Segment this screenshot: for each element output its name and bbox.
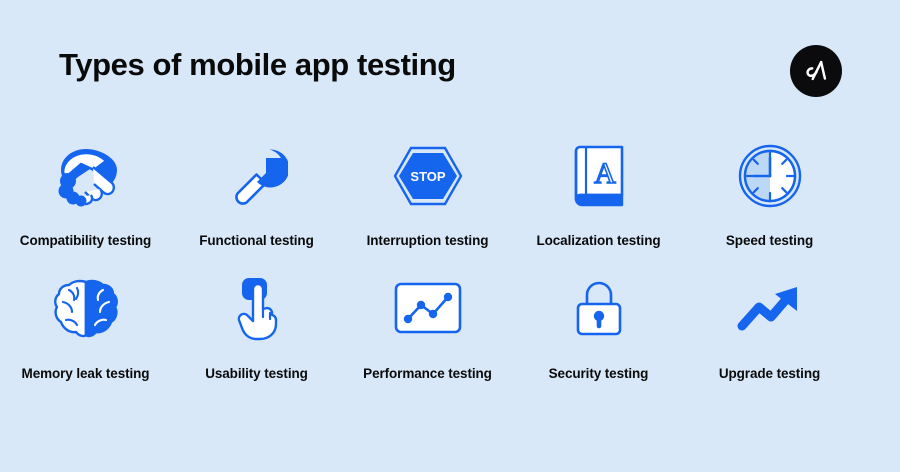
- tap-hand-icon: [228, 271, 286, 347]
- card-functional-testing[interactable]: Functional testing: [171, 138, 342, 248]
- card-label: Functional testing: [199, 233, 313, 248]
- page-title: Types of mobile app testing: [59, 47, 456, 83]
- card-usability-testing[interactable]: Usability testing: [171, 271, 342, 381]
- clock-icon: [737, 138, 803, 214]
- infographic-canvas: Types of mobile app testing: [0, 0, 900, 472]
- card-label: Localization testing: [536, 233, 660, 248]
- wrench-icon: [226, 138, 288, 214]
- card-label: Interruption testing: [367, 233, 489, 248]
- card-upgrade-testing[interactable]: Upgrade testing: [684, 271, 855, 381]
- card-interruption-testing[interactable]: STOP Interruption testing: [342, 138, 513, 248]
- card-localization-testing[interactable]: A Localization testing: [513, 138, 684, 248]
- card-label: Security testing: [549, 366, 649, 381]
- header: Types of mobile app testing: [0, 0, 900, 120]
- line-chart-icon: [393, 271, 463, 347]
- stop-sign-label: STOP: [410, 169, 445, 184]
- card-label: Performance testing: [363, 366, 492, 381]
- card-label: Speed testing: [726, 233, 813, 248]
- card-label: Usability testing: [205, 366, 308, 381]
- card-security-testing[interactable]: Security testing: [513, 271, 684, 381]
- card-label: Upgrade testing: [719, 366, 820, 381]
- trend-up-arrow-icon: [737, 271, 803, 347]
- card-row-2: Memory leak testing Usability testing: [0, 271, 900, 381]
- book-icon: A: [570, 138, 628, 214]
- brand-logo-icon: [790, 45, 842, 97]
- padlock-icon: [571, 271, 627, 347]
- book-cover-letter: A: [594, 157, 616, 190]
- card-performance-testing[interactable]: Performance testing: [342, 271, 513, 381]
- card-label: Memory leak testing: [22, 366, 150, 381]
- card-memory-leak-testing[interactable]: Memory leak testing: [0, 271, 171, 381]
- handshake-icon: [50, 138, 122, 214]
- brain-icon: [51, 271, 121, 347]
- card-row-1: Compatibility testing Functional testing: [0, 138, 900, 248]
- stop-sign-icon: STOP: [391, 138, 465, 214]
- card-speed-testing[interactable]: Speed testing: [684, 138, 855, 248]
- card-label: Compatibility testing: [20, 233, 151, 248]
- card-compatibility-testing[interactable]: Compatibility testing: [0, 138, 171, 248]
